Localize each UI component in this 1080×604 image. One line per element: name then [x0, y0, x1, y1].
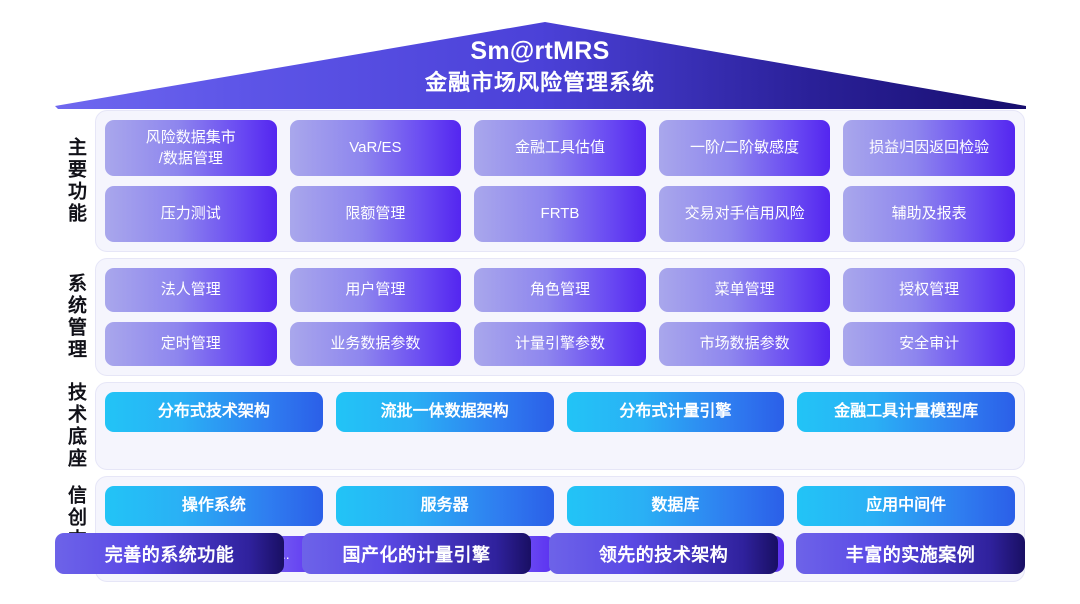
tile-sensitivity[interactable]: 一阶/二阶敏感度	[659, 120, 831, 176]
tile-middleware[interactable]: 应用中间件	[797, 486, 1015, 526]
section-label-main-functions: 主要功能	[55, 110, 95, 252]
tile-label: 市场数据参数	[700, 334, 790, 354]
banner-rich-cases[interactable]: 丰富的实施案例	[796, 533, 1025, 574]
tile-risk-data-mart[interactable]: 风险数据集市 /数据管理	[105, 120, 277, 176]
bottom-highlight-bar: 完善的系统功能 国产化的计量引擎 领先的技术架构 丰富的实施案例	[55, 533, 1025, 574]
banner-label: 领先的技术架构	[599, 541, 729, 567]
tile-label: 操作系统	[182, 496, 246, 516]
banner-complete-functions[interactable]: 完善的系统功能	[55, 533, 284, 574]
tile-label: 服务器	[421, 496, 469, 516]
tile-counterparty-credit-risk[interactable]: 交易对手信用风险	[659, 186, 831, 242]
tile-label: 用户管理	[345, 280, 405, 300]
tile-label: 数据库	[651, 496, 699, 516]
tile-stream-batch-data-architecture[interactable]: 流批一体数据架构	[336, 392, 554, 432]
tile-label: 限额管理	[345, 204, 405, 224]
roof-shape	[0, 0, 1080, 112]
tile-instrument-valuation[interactable]: 金融工具估值	[474, 120, 646, 176]
tile-label: 分布式计量引擎	[619, 402, 731, 422]
function-row: 操作系统 服务器 数据库 应用中间件	[105, 486, 1015, 526]
section-label-system-management: 系统管理	[55, 258, 95, 376]
function-row: 定时管理 业务数据参数 计量引擎参数 市场数据参数 安全审计	[105, 322, 1015, 366]
tile-label: 金融工具估值	[515, 138, 605, 158]
tile-label: 辅助及报表	[892, 204, 967, 224]
tile-pnl-attribution[interactable]: 损益归因返回检验	[843, 120, 1015, 176]
panel-technology-base: 分布式技术架构 流批一体数据架构 分布式计量引擎 金融工具计量模型库	[95, 382, 1025, 470]
tile-server[interactable]: 服务器	[336, 486, 554, 526]
tile-market-data-params[interactable]: 市场数据参数	[659, 322, 831, 366]
function-row: 法人管理 用户管理 角色管理 菜单管理 授权管理	[105, 268, 1015, 312]
section-main-functions: 主要功能 风险数据集市 /数据管理 VaR/ES 金融工具估值 一阶/二阶敏感度…	[0, 110, 1080, 252]
banner-label: 国产化的计量引擎	[343, 541, 491, 567]
tile-label: VaR/ES	[349, 138, 401, 158]
tile-stress-test[interactable]: 压力测试	[105, 186, 277, 242]
banner-domestic-engine[interactable]: 国产化的计量引擎	[302, 533, 531, 574]
tile-label: 损益归因返回检验	[869, 138, 989, 158]
tile-label: 角色管理	[530, 280, 590, 300]
tile-user-management[interactable]: 用户管理	[290, 268, 462, 312]
tile-label: 菜单管理	[715, 280, 775, 300]
tile-label: 风险数据集市 /数据管理	[146, 127, 236, 169]
tile-frtb[interactable]: FRTB	[474, 186, 646, 242]
panel-main-functions: 风险数据集市 /数据管理 VaR/ES 金融工具估值 一阶/二阶敏感度 损益归因…	[95, 110, 1025, 252]
tile-calc-engine-params[interactable]: 计量引擎参数	[474, 322, 646, 366]
tile-limit-management[interactable]: 限额管理	[290, 186, 462, 242]
tile-menu-management[interactable]: 菜单管理	[659, 268, 831, 312]
tile-legal-entity-management[interactable]: 法人管理	[105, 268, 277, 312]
header-roof: Sm@rtMRS 金融市场风险管理系统	[0, 0, 1080, 112]
banner-label: 丰富的实施案例	[846, 541, 976, 567]
function-row: 压力测试 限额管理 FRTB 交易对手信用风险 辅助及报表	[105, 186, 1015, 242]
tile-label: 法人管理	[161, 280, 221, 300]
tile-label: 流批一体数据架构	[381, 402, 509, 422]
tile-security-audit[interactable]: 安全审计	[843, 322, 1015, 366]
section-label-technology-base: 技术底座	[55, 382, 95, 470]
tile-database[interactable]: 数据库	[567, 486, 785, 526]
function-row: 分布式技术架构 流批一体数据架构 分布式计量引擎 金融工具计量模型库	[105, 392, 1015, 432]
tile-label: 应用中间件	[866, 496, 946, 516]
tile-schedule-management[interactable]: 定时管理	[105, 322, 277, 366]
section-technology-base: 技术底座 分布式技术架构 流批一体数据架构 分布式计量引擎 金融工具计量模型库	[0, 382, 1080, 470]
banner-label: 完善的系统功能	[105, 541, 235, 567]
banner-leading-architecture[interactable]: 领先的技术架构	[549, 533, 778, 574]
architecture-stack: 主要功能 风险数据集市 /数据管理 VaR/ES 金融工具估值 一阶/二阶敏感度…	[0, 110, 1080, 588]
section-label-text: 技术底座	[64, 382, 86, 470]
function-row: 风险数据集市 /数据管理 VaR/ES 金融工具估值 一阶/二阶敏感度 损益归因…	[105, 120, 1015, 176]
tile-label: 压力测试	[161, 204, 221, 224]
tile-var-es[interactable]: VaR/ES	[290, 120, 462, 176]
tile-label: 分布式技术架构	[158, 402, 270, 422]
tile-instrument-model-library[interactable]: 金融工具计量模型库	[797, 392, 1015, 432]
panel-system-management: 法人管理 用户管理 角色管理 菜单管理 授权管理 定时管理 业务数据参数 计量引…	[95, 258, 1025, 376]
tile-operating-system[interactable]: 操作系统	[105, 486, 323, 526]
tile-label: 业务数据参数	[330, 334, 420, 354]
tile-label: 金融工具计量模型库	[834, 402, 978, 422]
tile-label: 计量引擎参数	[515, 334, 605, 354]
section-label-text: 系统管理	[64, 273, 86, 361]
tile-label: 安全审计	[899, 334, 959, 354]
tile-distributed-calc-engine[interactable]: 分布式计量引擎	[567, 392, 785, 432]
tile-label: 一阶/二阶敏感度	[690, 138, 799, 158]
section-system-management: 系统管理 法人管理 用户管理 角色管理 菜单管理 授权管理 定时管理 业务数据参…	[0, 258, 1080, 376]
tile-authorization-management[interactable]: 授权管理	[843, 268, 1015, 312]
tile-label: 定时管理	[161, 334, 221, 354]
tile-role-management[interactable]: 角色管理	[474, 268, 646, 312]
tile-distributed-architecture[interactable]: 分布式技术架构	[105, 392, 323, 432]
tile-label: 交易对手信用风险	[685, 204, 805, 224]
tile-business-data-params[interactable]: 业务数据参数	[290, 322, 462, 366]
section-label-text: 主要功能	[64, 137, 86, 225]
tile-reports[interactable]: 辅助及报表	[843, 186, 1015, 242]
tile-label: 授权管理	[899, 280, 959, 300]
tile-label: FRTB	[541, 204, 580, 224]
